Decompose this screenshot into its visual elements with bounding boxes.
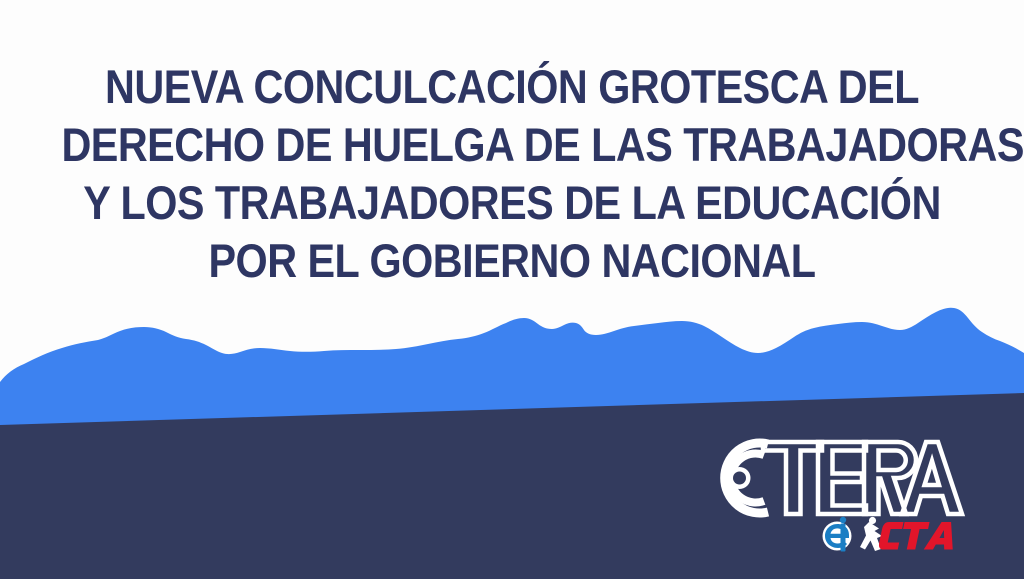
headline-line-2: DERECHO DE HUELGA DE LAS TRABAJADORAS: [61, 116, 962, 174]
poster-canvas: NUEVA CONCULCACIÓN GROTESCA DEL DERECHO …: [0, 0, 1024, 579]
education-international-emblem-icon: [823, 517, 852, 552]
headline-line-4: POR EL GOBIERNO NACIONAL: [61, 232, 962, 290]
logo-letter-r: [864, 442, 916, 514]
logo-letter-c: [725, 443, 768, 513]
page-title: NUEVA CONCULCACIÓN GROTESCA DEL DERECHO …: [0, 58, 1024, 290]
logo-letter-a: [902, 442, 962, 514]
raised-arm-figure-icon: [860, 517, 882, 551]
headline-line-1: NUEVA CONCULCACIÓN GROTESCA DEL: [61, 58, 962, 116]
ctera-logo: CTERA CTA ei: [706, 428, 968, 558]
cta-wordmark: [878, 522, 959, 550]
headline-line-3: Y LOS TRABAJADORES DE LA EDUCACIÓN: [61, 174, 962, 232]
logo-letter-t: [763, 442, 822, 514]
logo-letter-e: [818, 442, 866, 514]
